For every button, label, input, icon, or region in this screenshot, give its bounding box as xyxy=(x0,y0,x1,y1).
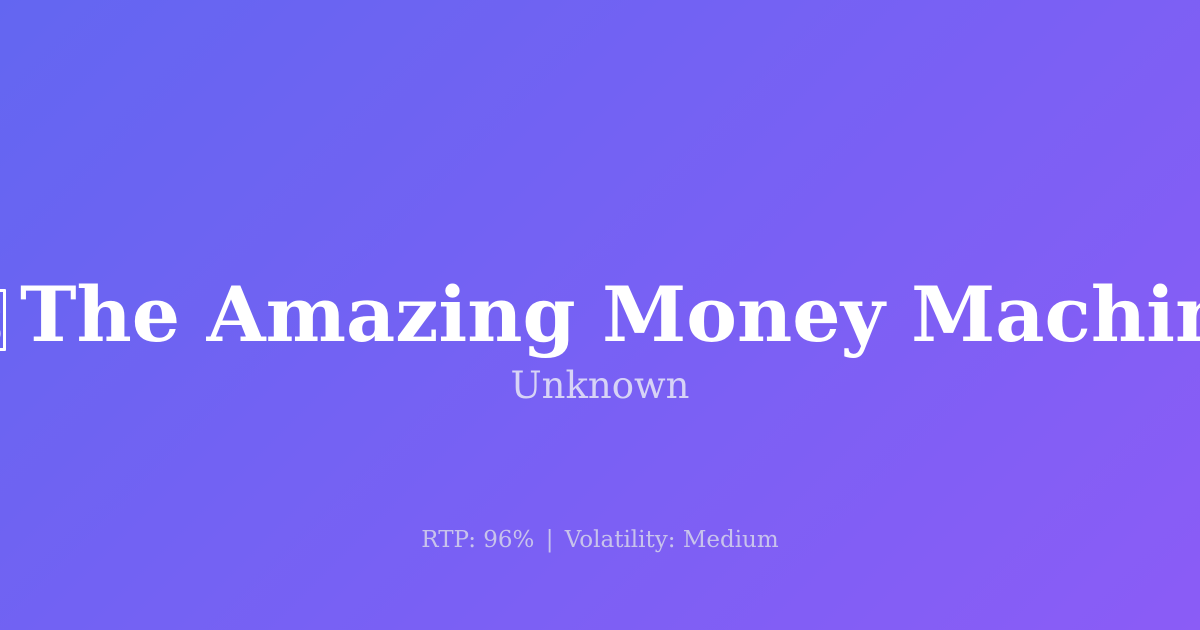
volatility-label: Volatility: xyxy=(565,527,676,553)
rtp-label: RTP: xyxy=(421,527,476,553)
page-title-text: The Amazing Money Machine xyxy=(20,270,1200,359)
page-title: 0 1 F 0 The Amazing Money Machine xyxy=(0,277,1200,353)
missing-glyph-box: 0 1 F 0 xyxy=(0,289,6,351)
hex-digit-1: 1 xyxy=(0,296,1,316)
missing-glyph-hex-digits: 0 1 F 0 xyxy=(0,292,3,348)
meta-separator: | xyxy=(542,527,558,553)
slot-machine-icon: 0 1 F 0 xyxy=(0,277,6,353)
hex-digit-3: 0 xyxy=(0,324,1,344)
game-meta-line: RTP: 96% | Volatility: Medium xyxy=(0,527,1200,555)
rtp-value: 96% xyxy=(483,527,534,553)
subtitle: Unknown xyxy=(0,366,1200,407)
og-share-card: 0 1 F 0 The Amazing Money Machine Unknow… xyxy=(0,0,1200,630)
volatility-value: Medium xyxy=(683,527,779,553)
